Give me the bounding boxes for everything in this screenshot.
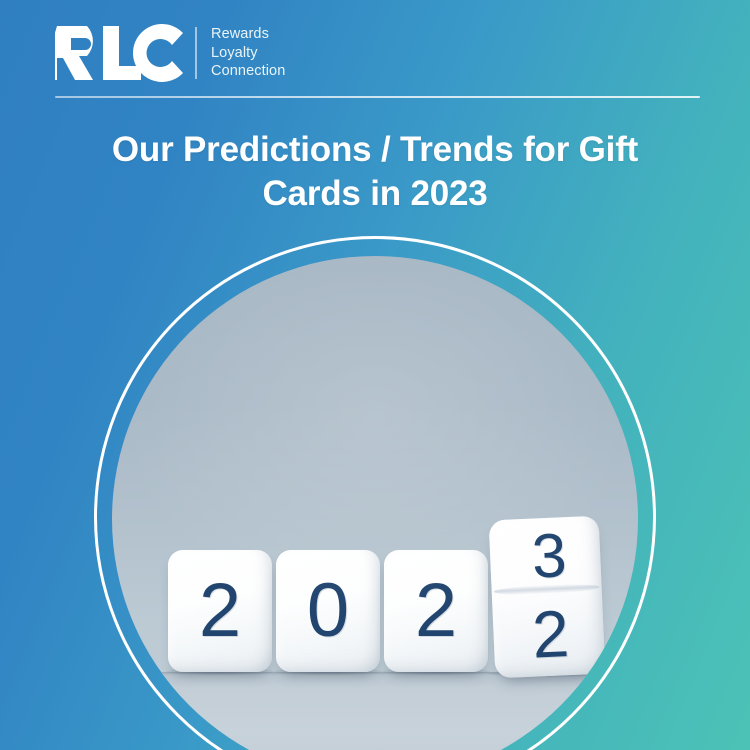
page-title: Our Predictions / Trends for Gift Cards … [0,128,750,216]
brand-header: Rewards Loyalty Connection [55,22,285,84]
header-divider-rule [55,96,700,98]
brand-divider [195,27,197,79]
turning-die-top-face-digit: 3 [489,518,602,589]
hero-photo: 2 0 2 3 2 [112,256,638,750]
turning-die-cube: 3 2 [489,516,606,679]
dice-group: 2 0 2 3 2 [112,256,638,750]
die-face-digit: 2 [415,573,457,649]
turning-die-front-face-digit: 2 [492,592,605,677]
poster-canvas: Rewards Loyalty Connection Our Predictio… [0,0,750,750]
tagline-line-2: Loyalty [211,44,285,63]
tagline-line-3: Connection [211,62,285,81]
die-face-digit: 0 [307,573,349,649]
tagline-line-1: Rewards [211,25,285,44]
turning-die-body: 3 2 [489,516,606,679]
rlc-wordmark-icon [55,24,185,82]
die-cube: 0 [276,550,380,672]
brand-tagline: Rewards Loyalty Connection [211,25,285,81]
die-cube: 2 [168,550,272,672]
die-face-digit: 2 [199,573,241,649]
die-cube: 2 [384,550,488,672]
